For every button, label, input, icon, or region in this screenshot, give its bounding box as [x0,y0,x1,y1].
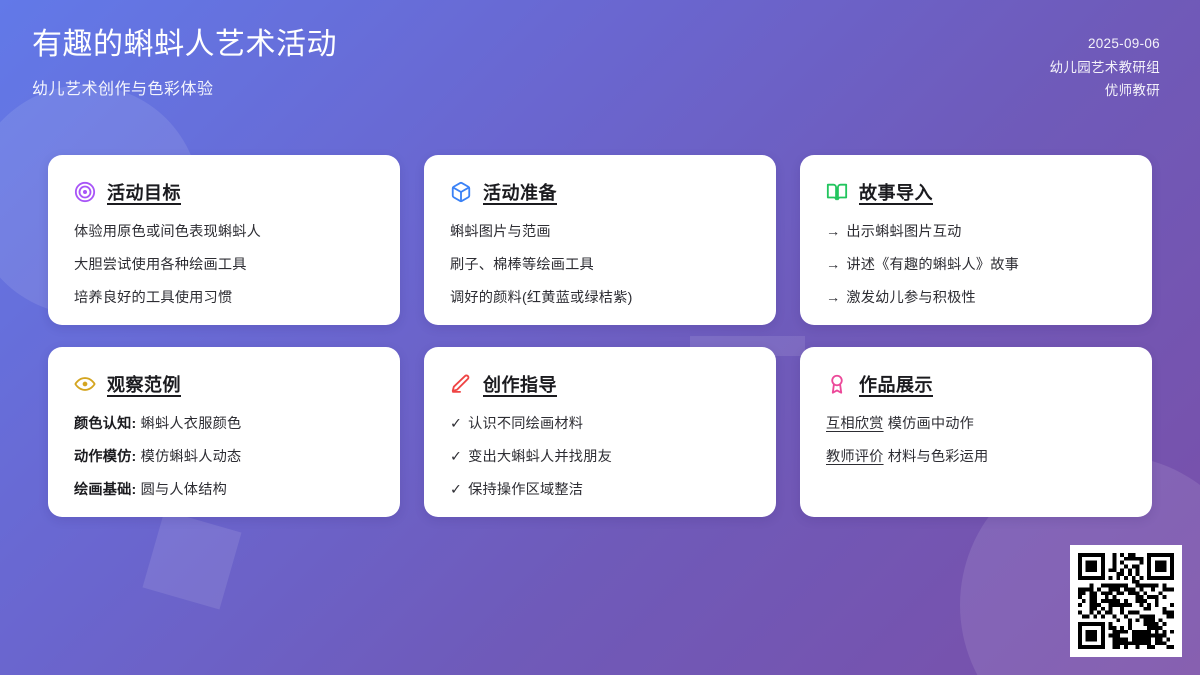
cards-grid: 活动目标体验用原色或间色表现蝌蚪人大胆尝试使用各种绘画工具培养良好的工具使用习惯… [48,155,1152,517]
slide-header: 有趣的蝌蚪人艺术活动 幼儿艺术创作与色彩体验 2025-09-06 幼儿园艺术教… [0,0,1200,135]
slide-root: 有趣的蝌蚪人艺术活动 幼儿艺术创作与色彩体验 2025-09-06 幼儿园艺术教… [0,0,1200,675]
item-marker: ✓ [450,416,462,432]
card-item: →讲述《有趣的蝌蚪人》故事 [826,254,1126,276]
card-header: 观察范例 [74,371,374,397]
card-item: 调好的颜料(红黄蓝或绿桔紫) [450,287,750,309]
eye-icon [74,373,96,395]
meta-group: 优师教研 [1050,79,1160,103]
decorative-square [143,511,242,610]
card-item: 绘画基础: 圆与人体结构 [74,479,374,501]
item-text: 讲述《有趣的蝌蚪人》故事 [846,257,1019,273]
card-body: 互相欣赏 模仿画中动作教师评价 材料与色彩运用 [826,413,1126,468]
item-marker: → [826,257,840,273]
card-body: 颜色认知: 蝌蚪人衣服颜色动作模仿: 模仿蝌蚪人动态绘画基础: 圆与人体结构 [74,413,374,501]
card-item: 体验用原色或间色表现蝌蚪人 [74,221,374,243]
meta-date: 2025-09-06 [1050,32,1160,56]
item-text: 大胆尝试使用各种绘画工具 [74,257,247,273]
item-text: 蝌蚪图片与范画 [450,224,551,240]
meta-organization: 幼儿园艺术教研组 [1050,56,1160,80]
card-body: 蝌蚪图片与范画刷子、棉棒等绘画工具调好的颜料(红黄蓝或绿桔紫) [450,221,750,309]
card-item: ✓保持操作区域整洁 [450,479,750,501]
pencil-edit-icon [450,373,472,395]
item-marker: → [826,224,840,240]
award-ribbon-icon [826,373,848,395]
item-marker: ✓ [450,449,462,465]
card-item: 互相欣赏 模仿画中动作 [826,413,1126,435]
card-1[interactable]: 活动目标体验用原色或间色表现蝌蚪人大胆尝试使用各种绘画工具培养良好的工具使用习惯 [48,155,400,325]
item-label: 动作模仿: [74,449,136,465]
card-3[interactable]: 故事导入→出示蝌蚪图片互动→讲述《有趣的蝌蚪人》故事→激发幼儿参与积极性 [800,155,1152,325]
card-4[interactable]: 观察范例颜色认知: 蝌蚪人衣服颜色动作模仿: 模仿蝌蚪人动态绘画基础: 圆与人体… [48,347,400,517]
header-meta: 2025-09-06 幼儿园艺术教研组 优师教研 [1050,26,1160,103]
card-header: 活动目标 [74,179,374,205]
card-body: →出示蝌蚪图片互动→讲述《有趣的蝌蚪人》故事→激发幼儿参与积极性 [826,221,1126,309]
item-text: 认识不同绘画材料 [468,416,583,432]
item-text: 材料与色彩运用 [888,449,989,465]
card-item: →激发幼儿参与积极性 [826,287,1126,309]
item-text: 出示蝌蚪图片互动 [846,224,961,240]
card-item: 蝌蚪图片与范画 [450,221,750,243]
card-title: 作品展示 [859,371,933,397]
item-label: 绘画基础: [74,482,136,498]
item-text: 蝌蚪人衣服颜色 [141,416,242,432]
item-text: 模仿蝌蚪人动态 [141,449,242,465]
item-marker: → [826,290,840,306]
item-label: 颜色认知: [74,416,136,432]
item-text: 圆与人体结构 [141,482,227,498]
card-2[interactable]: 活动准备蝌蚪图片与范画刷子、棉棒等绘画工具调好的颜料(红黄蓝或绿桔紫) [424,155,776,325]
card-title: 活动目标 [107,179,181,205]
card-item: 刷子、棉棒等绘画工具 [450,254,750,276]
card-title: 活动准备 [483,179,557,205]
item-text: 刷子、棉棒等绘画工具 [450,257,594,273]
title-block: 有趣的蝌蚪人艺术活动 幼儿艺术创作与色彩体验 [30,26,337,99]
card-header: 故事导入 [826,179,1126,205]
card-title: 故事导入 [859,179,933,205]
card-title: 创作指导 [483,371,557,397]
card-item: 教师评价 材料与色彩运用 [826,446,1126,468]
page-title: 有趣的蝌蚪人艺术活动 [32,26,337,64]
package-box-icon [450,181,472,203]
card-item: →出示蝌蚪图片互动 [826,221,1126,243]
item-text: 模仿画中动作 [888,416,974,432]
target-icon [74,181,96,203]
item-text: 调好的颜料(红黄蓝或绿桔紫) [450,290,633,306]
card-item: 颜色认知: 蝌蚪人衣服颜色 [74,413,374,435]
card-item: ✓认识不同绘画材料 [450,413,750,435]
item-marker: ✓ [450,482,462,498]
card-item: 动作模仿: 模仿蝌蚪人动态 [74,446,374,468]
item-text: 变出大蝌蚪人并找朋友 [468,449,612,465]
card-header: 作品展示 [826,371,1126,397]
item-label: 教师评价 [826,449,884,465]
card-header: 活动准备 [450,179,750,205]
card-body: 体验用原色或间色表现蝌蚪人大胆尝试使用各种绘画工具培养良好的工具使用习惯 [74,221,374,309]
card-item: ✓变出大蝌蚪人并找朋友 [450,446,750,468]
open-book-icon [826,181,848,203]
qr-code[interactable] [1070,545,1182,657]
card-body: ✓认识不同绘画材料✓变出大蝌蚪人并找朋友✓保持操作区域整洁 [450,413,750,501]
item-text: 激发幼儿参与积极性 [846,290,976,306]
card-5[interactable]: 创作指导✓认识不同绘画材料✓变出大蝌蚪人并找朋友✓保持操作区域整洁 [424,347,776,517]
item-label: 互相欣赏 [826,416,884,432]
item-text: 保持操作区域整洁 [468,482,583,498]
card-item: 培养良好的工具使用习惯 [74,287,374,309]
page-subtitle: 幼儿艺术创作与色彩体验 [32,75,337,99]
card-item: 大胆尝试使用各种绘画工具 [74,254,374,276]
item-text: 体验用原色或间色表现蝌蚪人 [74,224,261,240]
item-text: 培养良好的工具使用习惯 [74,290,232,306]
card-title: 观察范例 [107,371,181,397]
card-header: 创作指导 [450,371,750,397]
card-6[interactable]: 作品展示互相欣赏 模仿画中动作教师评价 材料与色彩运用 [800,347,1152,517]
